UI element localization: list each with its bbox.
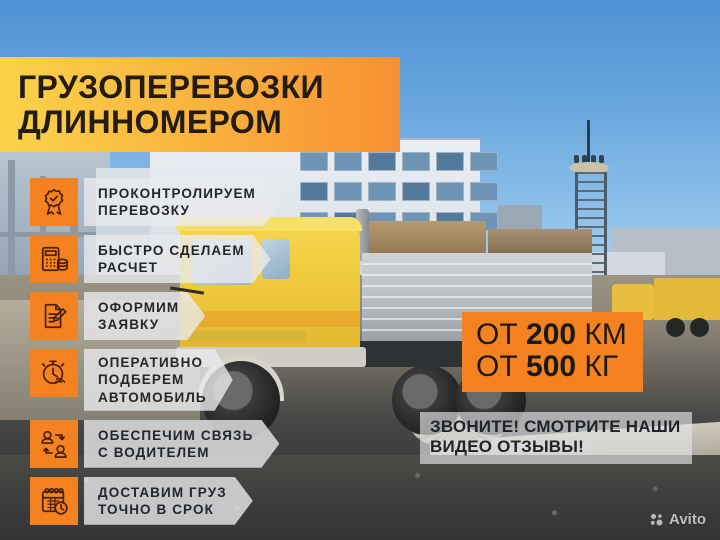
feature-label: ОФОРМИМ ЗАЯВКУ bbox=[84, 292, 205, 340]
price-prefix: ОТ bbox=[476, 350, 518, 383]
feature-item[interactable]: БЫСТРО СДЕЛАЕМ РАСЧЕТ bbox=[30, 235, 282, 283]
calendar-clock-icon bbox=[30, 477, 78, 525]
feature-list: ПРОКОНТРОЛИРУЕМ ПЕРЕВОЗКУ БЫСТРО bbox=[30, 178, 282, 534]
window-row bbox=[300, 152, 498, 171]
feature-item[interactable]: ОБЕСПЕЧИМ СВЯЗЬ С ВОДИТЕЛЕМ bbox=[30, 420, 282, 468]
avito-logo-icon bbox=[649, 512, 664, 527]
headline-banner: ГРУЗОПЕРЕВОЗКИ ДЛИННОМЕРОМ bbox=[0, 57, 400, 152]
two-people-exchange-icon bbox=[30, 420, 78, 468]
document-pen-icon bbox=[30, 292, 78, 340]
cta-line-2: ВИДЕО ОТЗЫВЫ! bbox=[430, 437, 680, 457]
feature-item[interactable]: ОФОРМИМ ЗАЯВКУ bbox=[30, 292, 282, 340]
price-unit-km: КМ bbox=[584, 318, 626, 351]
price-line-1: ОТ 200 КМ bbox=[476, 319, 627, 351]
price-line-2: ОТ 500 КГ bbox=[476, 351, 627, 383]
feature-label: БЫСТРО СДЕЛАЕМ РАСЧЕТ bbox=[84, 235, 271, 283]
stopwatch-hand-icon bbox=[30, 349, 78, 397]
cta-line-1: ЗВОНИТЕ! СМОТРИТЕ НАШИ bbox=[430, 417, 680, 437]
feature-item[interactable]: ДОСТАВИМ ГРУЗ ТОЧНО В СРОК bbox=[30, 477, 282, 525]
feature-label: ОБЕСПЕЧИМ СВЯЗЬ С ВОДИТЕЛЕМ bbox=[84, 420, 279, 468]
advertisement-banner: ГРУЗОПЕРЕВОЗКИ ДЛИННОМЕРОМ ПРОКОНТРОЛИРУ… bbox=[0, 0, 720, 540]
price-badge: ОТ 200 КМ ОТ 500 КГ bbox=[462, 312, 643, 392]
feature-label: ОПЕРАТИВНО ПОДБЕРЕМ АВТОМОБИЛЬ bbox=[84, 349, 233, 411]
headline-line-1: ГРУЗОПЕРЕВОЗКИ bbox=[18, 70, 400, 104]
feature-label: ДОСТАВИМ ГРУЗ ТОЧНО В СРОК bbox=[84, 477, 253, 525]
price-prefix: ОТ bbox=[476, 318, 518, 351]
price-value-km: 200 bbox=[526, 318, 576, 351]
headline-line-2: ДЛИННОМЕРОМ bbox=[18, 105, 400, 139]
call-to-action: ЗВОНИТЕ! СМОТРИТЕ НАШИ ВИДЕО ОТЗЫВЫ! bbox=[420, 412, 692, 464]
feature-item[interactable]: ОПЕРАТИВНО ПОДБЕРЕМ АВТОМОБИЛЬ bbox=[30, 349, 282, 411]
price-value-kg: 500 bbox=[526, 350, 576, 383]
window-row bbox=[300, 182, 498, 201]
calculator-coins-icon bbox=[30, 235, 78, 283]
feature-label: ПРОКОНТРОЛИРУЕМ ПЕРЕВОЗКУ bbox=[84, 178, 282, 226]
avito-label: Avito bbox=[669, 511, 706, 528]
feature-item[interactable]: ПРОКОНТРОЛИРУЕМ ПЕРЕВОЗКУ bbox=[30, 178, 282, 226]
award-badge-check-icon bbox=[30, 178, 78, 226]
price-unit-kg: КГ bbox=[584, 350, 618, 383]
avito-watermark: Avito bbox=[649, 511, 706, 528]
